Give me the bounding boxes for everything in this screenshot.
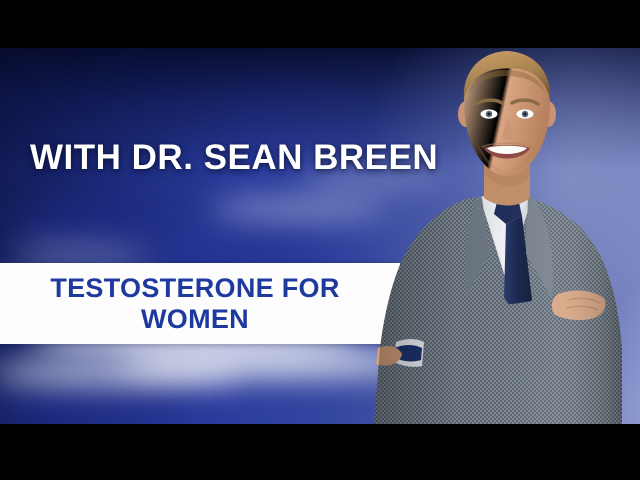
title-card-text: TESTOSTERONE FOR WOMEN (0, 263, 390, 344)
letterbox-bar-bottom (0, 424, 640, 480)
letterbox-bar-top (0, 0, 640, 48)
suit-shading (374, 195, 622, 424)
background-light-streak (10, 244, 150, 264)
title-line-2: WOMEN (141, 304, 249, 335)
pupil-left (488, 113, 491, 116)
pupil-right (524, 113, 527, 116)
video-frame: WITH DR. SEAN BREEN TESTOSTERONE FOR WOM… (0, 0, 640, 480)
title-line-1: TESTOSTERONE FOR (50, 273, 339, 304)
background-light-streak (0, 360, 240, 386)
title-card: TESTOSTERONE FOR WOMEN (0, 263, 400, 344)
subject-portrait (372, 48, 640, 424)
video-content-area: WITH DR. SEAN BREEN TESTOSTERONE FOR WOM… (0, 48, 640, 424)
